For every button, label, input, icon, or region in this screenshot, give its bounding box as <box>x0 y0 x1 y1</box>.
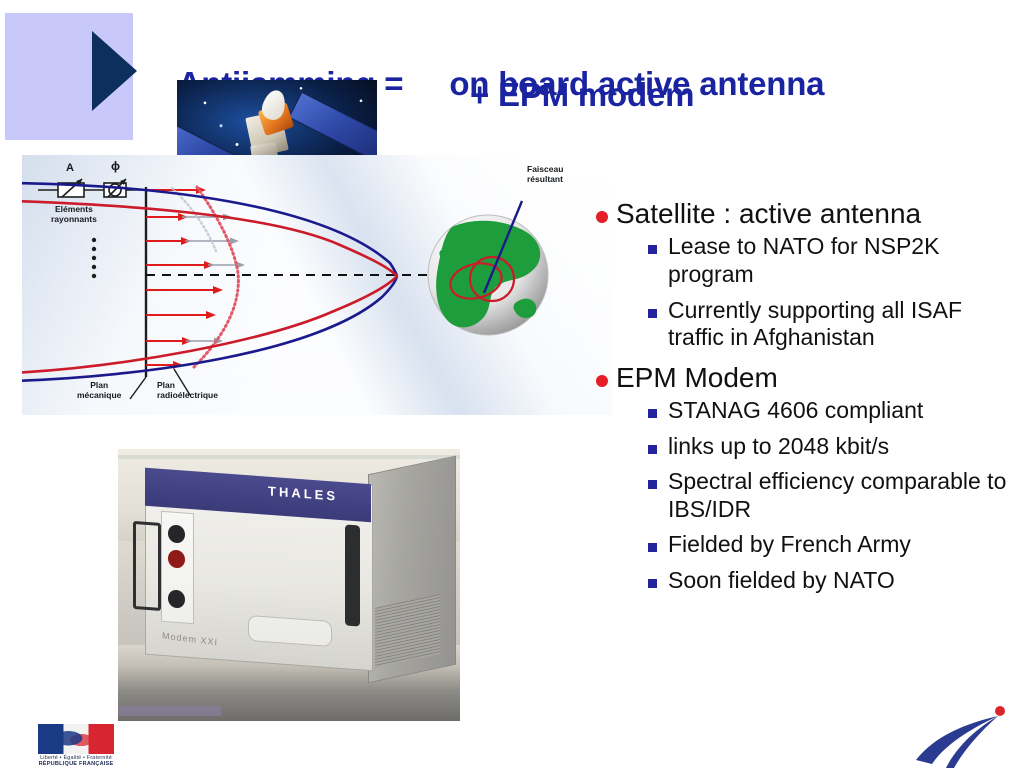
modem-connector-top <box>168 525 185 544</box>
title-box-top-margin <box>5 0 133 8</box>
corner-swoosh-logo <box>902 702 1018 768</box>
french-republic-logo: Liberté • Égalité • Fraternité RÉPUBLIQU… <box>38 724 114 768</box>
diagram-label-phase: ϕ <box>111 160 120 174</box>
modem-connector-red <box>168 549 185 568</box>
diagram-label-resulting-beam: Faisceau résultant <box>527 165 563 185</box>
french-republic-name: RÉPUBLIQUE FRANÇAISE <box>38 761 114 767</box>
diagram-label-mechanical-plane: Plan mécanique <box>77 381 121 401</box>
slide-canvas: Antijamming =on board active antenna + E… <box>0 0 1024 768</box>
modem-handle-left <box>133 521 161 611</box>
diagram-label-radiating-elements: Eléments rayonnants <box>51 205 97 225</box>
diagram-label-radioelectric-plane: Plan radioélectrique <box>157 381 218 401</box>
satellite-solar-panel-right <box>288 92 377 164</box>
swoosh-dot-icon <box>995 706 1005 716</box>
antenna-beam-diagram: A ϕ Eléments rayonnants Plan mécanique P… <box>22 155 612 415</box>
bullet-l1-heading: Satellite : active antenna <box>594 198 1018 229</box>
french-flag-icon <box>38 724 114 754</box>
list-item: Lease to NATO for NSP2K program <box>594 233 1018 288</box>
modem-handle-right <box>345 525 360 627</box>
diagram-label-amplitude: A <box>66 162 74 175</box>
diagram-vector-graphics <box>22 155 612 415</box>
beam-lobe-blue-lower <box>22 276 397 381</box>
marianne-icon <box>57 727 95 752</box>
bullet-l1-heading: EPM Modem <box>594 362 1018 393</box>
bullet-l2-group: Lease to NATO for NSP2K program Currentl… <box>594 233 1018 351</box>
page-title-line-2: + EPM modem <box>470 76 694 114</box>
list-item: Currently supporting all ISAF traffic in… <box>594 297 1018 352</box>
modem-photo-wall-stripe <box>118 455 460 460</box>
phase-delay-arrowheads <box>214 214 245 345</box>
list-item: Soon fielded by NATO <box>594 567 1018 595</box>
list-item: links up to 2048 kbit/s <box>594 433 1018 461</box>
array-continuation-dots <box>92 238 96 278</box>
phase-delay-arrows <box>182 217 240 341</box>
list-item: Spectral efficiency comparable to IBS/ID… <box>594 468 1018 523</box>
modem-photo-table-cloth <box>118 706 221 717</box>
bullet-l2-group: STANAG 4606 compliant links up to 2048 k… <box>594 397 1018 595</box>
content-bullet-list: Satellite : active antenna Lease to NATO… <box>594 198 1018 605</box>
list-item: Fielded by French Army <box>594 531 1018 559</box>
title-triangle-icon <box>92 31 137 111</box>
epm-modem-photo: THALES Modem XXI <box>118 449 460 721</box>
earth-globe <box>428 201 548 335</box>
list-item: STANAG 4606 compliant <box>594 397 1018 425</box>
